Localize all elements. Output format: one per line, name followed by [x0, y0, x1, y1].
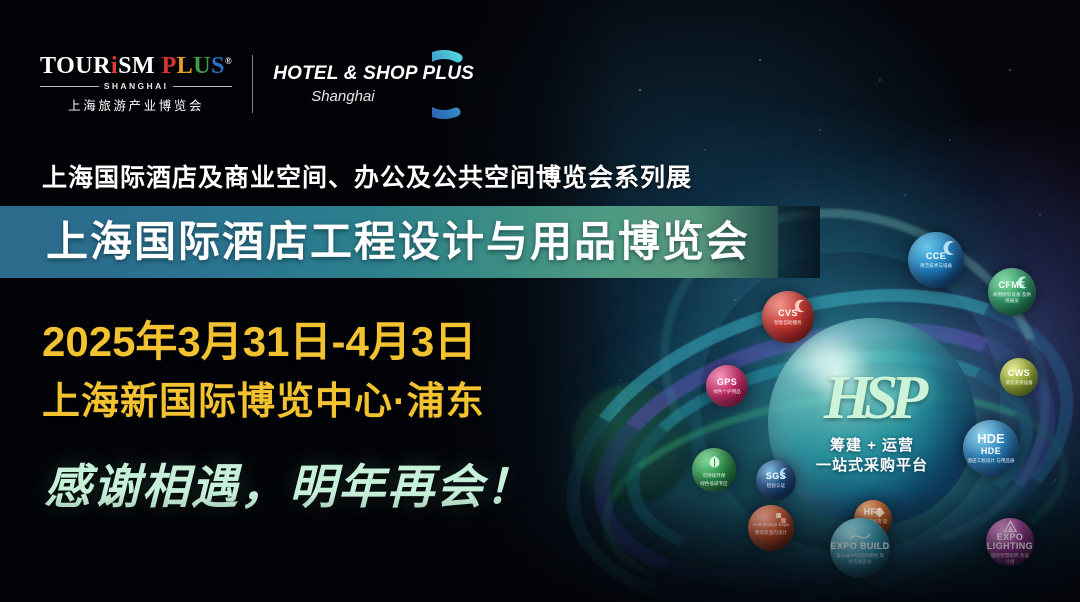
badge-subtitle: 清洗洗涤设备	[1001, 380, 1037, 386]
promo-banner: HSP 筹建 + 运营 一站式采购平台 CCE 清洁技术与设备 CFME 商用厨…	[0, 0, 1080, 602]
badge-sustainability[interactable]: 可持续环保 绿色低碳专区	[692, 448, 736, 492]
tourism-plus-city: SHANGHAI	[104, 81, 169, 91]
main-title: 上海国际酒店工程设计与用品博览会	[46, 214, 750, 270]
badge-subtitle: 酒店工程设计 与用品展	[963, 458, 1018, 464]
badge-subtitle: 商用厨房设备 及烘焙展览	[988, 292, 1036, 303]
rule-right	[173, 86, 232, 87]
tourism-plus-chinese-name: 上海旅游产业博览会	[68, 95, 204, 114]
logo-row: TOURiSM PLUS® SHANGHAI 上海旅游产业博览会 HOTEL &…	[40, 46, 508, 122]
event-venue: 上海新国际博览中心·浦东	[42, 370, 485, 425]
c-swirl-icon	[1013, 274, 1030, 291]
hsp-text-block: HOTEL & SHOP PLUS Shanghai	[273, 63, 474, 105]
badge-hde[interactable]: HDE HDE 酒店工程设计 与用品展	[963, 420, 1019, 476]
registered-mark: ®	[225, 56, 232, 66]
tourism-plus-wordmark: TOURiSM PLUS®	[40, 54, 232, 78]
tourism-plus-rule: SHANGHAI	[40, 81, 232, 91]
badge-subtitle: 智能自助服务	[770, 320, 806, 326]
hsp-wordmark: HOTEL & SHOP PLUS	[273, 63, 474, 85]
hsp-city: Shanghai	[311, 88, 374, 105]
tp-part-p: P	[162, 53, 177, 79]
badge-cvs[interactable]: CVS 智能自助服务	[762, 291, 814, 343]
bottom-vignette	[0, 492, 1080, 602]
badge-mark: HDE	[977, 432, 1004, 445]
logo-divider	[252, 55, 253, 113]
badge-cce[interactable]: CCE 清洁技术与设备	[908, 232, 964, 288]
rule-left	[40, 86, 99, 87]
badge-subtitle: 检验认证	[763, 483, 789, 489]
badge-name: CWS	[1008, 369, 1030, 378]
tp-part-u: U	[193, 53, 211, 79]
series-headline: 上海国际酒店及商业空间、办公及公共空间博览会系列展	[42, 158, 692, 194]
c-swirl-icon	[938, 238, 958, 258]
badge-name: HDE	[981, 447, 1001, 456]
hsp-monogram: HSP	[824, 369, 921, 428]
tp-part-s: S	[211, 53, 225, 79]
tp-part-sm: SM	[118, 53, 155, 79]
tp-part-l: L	[177, 53, 194, 79]
badge-name: GPS	[717, 378, 737, 387]
badge-subtitle: 绿色低碳专区	[696, 481, 732, 487]
badge-cfme[interactable]: CFME 商用厨房设备 及烘焙展览	[988, 268, 1036, 316]
badge-cws[interactable]: CWS 清洗洗涤设备	[1000, 358, 1038, 396]
badge-name: 可持续环保	[699, 473, 730, 479]
leaf-icon	[706, 454, 723, 471]
tp-part-tour: TOUR	[40, 53, 111, 79]
c-swirl-icon	[790, 297, 808, 315]
badge-gps[interactable]: GPS 绿色个护用品	[706, 365, 748, 407]
hotel-shop-plus-logo[interactable]: HOTEL & SHOP PLUS Shanghai	[273, 46, 508, 122]
sphere-tagline-1: 筹建 + 运营	[830, 436, 914, 456]
badge-subtitle: 绿色个护用品	[709, 389, 745, 395]
badge-subtitle: 清洁技术与设备	[916, 263, 956, 269]
tourism-plus-logo[interactable]: TOURiSM PLUS® SHANGHAI 上海旅游产业博览会	[40, 54, 232, 114]
sphere-tagline-2: 一站式采购平台	[816, 456, 928, 476]
event-date: 2025年3月31日-4月3日	[42, 308, 476, 369]
tp-part-i: i	[111, 53, 118, 79]
c-swirl-icon	[776, 466, 790, 480]
